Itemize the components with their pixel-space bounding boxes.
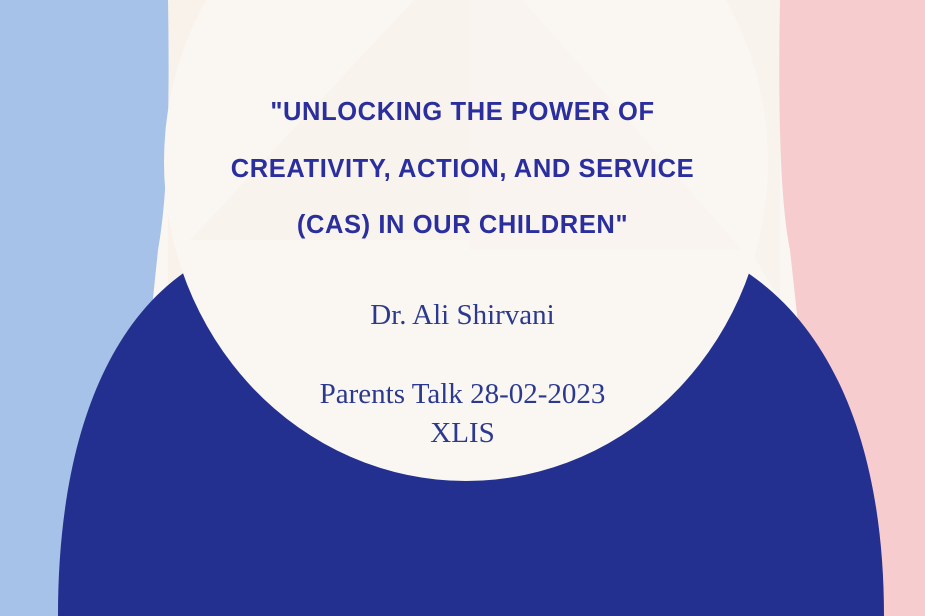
organization-name: XLIS: [103, 414, 823, 452]
title-line-1: "UNLOCKING THE POWER OF: [103, 100, 823, 126]
speaker-block: Dr. Ali Shirvani: [103, 300, 823, 332]
slide-title: "UNLOCKING THE POWER OF CREATIVITY, ACTI…: [103, 100, 823, 270]
event-title-and-date: Parents Talk 28-02-2023: [103, 375, 823, 413]
slide-content: "UNLOCKING THE POWER OF CREATIVITY, ACTI…: [0, 0, 925, 616]
title-line-2: CREATIVITY, ACTION, AND SERVICE: [103, 157, 823, 183]
title-slide: "UNLOCKING THE POWER OF CREATIVITY, ACTI…: [0, 0, 925, 616]
event-block: Parents Talk 28-02-2023 XLIS: [103, 375, 823, 452]
title-line-3: (CAS) IN OUR CHILDREN": [103, 213, 823, 239]
speaker-name: Dr. Ali Shirvani: [103, 300, 823, 332]
